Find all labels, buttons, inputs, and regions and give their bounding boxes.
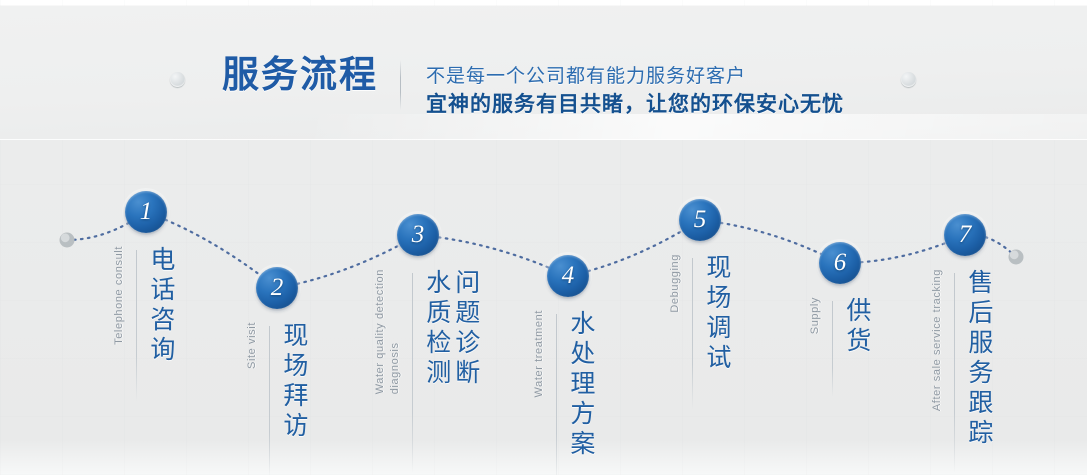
subtitle-line-1: 不是每一个公司都有能力服务好客户	[426, 64, 844, 90]
step-label-en: Debugging	[668, 254, 683, 313]
step-number-badge[interactable]: 1	[125, 191, 167, 233]
step-number-label: 3	[397, 214, 439, 256]
endpoint-dot-highlight	[1010, 250, 1019, 259]
step-label-en: diagnosis	[388, 269, 403, 394]
step-label-en: After sale service tracking	[930, 269, 945, 411]
step-label-group: After sale service tracking售后服务跟踪	[930, 269, 993, 473]
step-label-en: Water treatment	[532, 310, 547, 397]
step-number-label: 4	[547, 255, 589, 297]
step-label-cn: 现场拜访	[279, 322, 308, 442]
step-label-divider	[136, 250, 137, 402]
step-label-cn: 问题诊断	[451, 269, 480, 389]
step-label-en-group: Telephone consult	[112, 246, 127, 345]
header-panel: 服务流程 不是每一个公司都有能力服务好客户 宜神的服务有目共睹，让您的环保安心无…	[0, 6, 1087, 140]
step-label-en: Site visit	[245, 322, 260, 369]
step-label-divider	[269, 326, 270, 475]
step-number-badge[interactable]: 2	[256, 267, 298, 309]
step-number-label: 7	[944, 214, 986, 256]
step-label-cn-group: 供货	[842, 297, 871, 357]
step-number-label: 5	[679, 199, 721, 241]
step-label-cn-group: 水处理方案	[566, 310, 595, 460]
subtitle-line-2: 宜神的服务有目共睹，让您的环保安心无忧	[426, 90, 844, 120]
step-number-label: 2	[256, 267, 298, 309]
endpoint-dot-highlight	[61, 233, 70, 242]
step-label-group: Debugging现场调试	[668, 254, 731, 410]
step-label-divider	[556, 314, 557, 475]
step-label-cn-group: 水质检测问题诊断	[422, 269, 480, 389]
step-number-badge[interactable]: 4	[547, 255, 589, 297]
step-number-badge[interactable]: 5	[679, 199, 721, 241]
step-label-group: Supply供货	[808, 297, 871, 397]
step-number-label: 1	[125, 191, 167, 233]
step-label-cn: 电话咨询	[146, 246, 175, 366]
step-label-en-group: Site visit	[245, 322, 260, 369]
page-title: 服务流程	[222, 56, 378, 93]
subtitle-block: 不是每一个公司都有能力服务好客户 宜神的服务有目共睹，让您的环保安心无忧	[426, 64, 844, 120]
step-label-cn-group: 售后服务跟踪	[964, 269, 993, 449]
step-label-en-group: Water treatment	[532, 310, 547, 397]
step-number-badge[interactable]: 7	[944, 214, 986, 256]
step-label-cn: 水质检测	[422, 269, 451, 389]
step-number-badge[interactable]: 6	[819, 242, 861, 284]
step-label-en-group: Supply	[808, 297, 823, 334]
step-label-divider	[954, 273, 955, 473]
service-process-banner: 服务流程 不是每一个公司都有能力服务好客户 宜神的服务有目共睹，让您的环保安心无…	[0, 0, 1087, 475]
step-label-en-group: After sale service tracking	[930, 269, 945, 411]
screw-dot-icon	[170, 72, 185, 87]
title-divider	[400, 60, 401, 110]
step-label-group: Telephone consult电话咨询	[112, 246, 175, 402]
step-label-group: Water treatment水处理方案	[532, 310, 595, 475]
step-label-en: Telephone consult	[112, 246, 127, 345]
step-label-cn: 现场调试	[702, 254, 731, 374]
process-flow: 1Telephone consult电话咨询2Site visit现场拜访3Wa…	[0, 150, 1087, 475]
step-label-group: Site visit现场拜访	[245, 322, 308, 475]
step-label-en-group: Debugging	[668, 254, 683, 313]
step-label-cn-group: 现场调试	[702, 254, 731, 374]
step-label-divider	[692, 258, 693, 410]
step-label-en: Supply	[808, 297, 823, 334]
step-label-cn: 供货	[842, 297, 871, 357]
step-number-badge[interactable]: 3	[397, 214, 439, 256]
step-label-cn-group: 现场拜访	[279, 322, 308, 442]
step-label-en-group: Water quality detectiondiagnosis	[373, 269, 403, 394]
step-label-cn: 水处理方案	[566, 310, 595, 460]
step-label-divider	[412, 273, 413, 473]
step-label-cn: 售后服务跟踪	[964, 269, 993, 449]
step-label-divider	[832, 301, 833, 397]
step-label-group: Water quality detectiondiagnosis水质检测问题诊断	[373, 269, 480, 473]
step-label-en: Water quality detection	[373, 269, 388, 394]
step-label-cn-group: 电话咨询	[146, 246, 175, 366]
step-number-label: 6	[819, 242, 861, 284]
screw-dot-icon	[901, 72, 916, 87]
